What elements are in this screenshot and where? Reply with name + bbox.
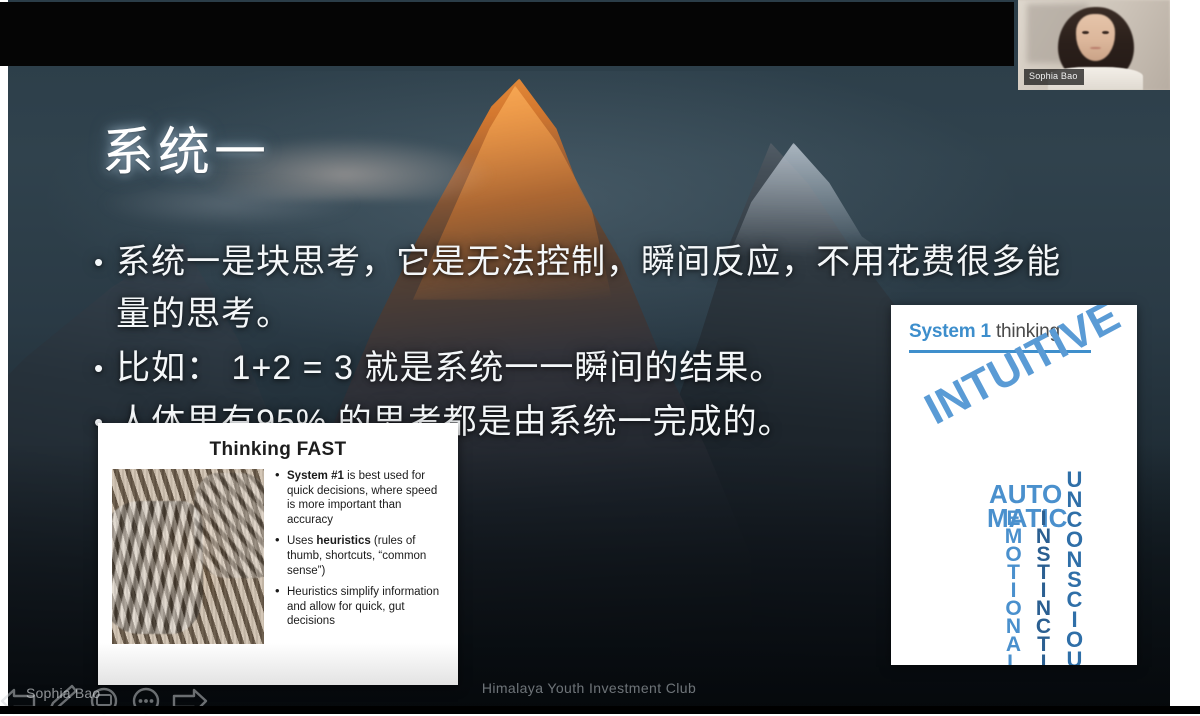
video-tile-name-label: Sophia Bao: [1024, 69, 1084, 85]
wordart-emotional: EMOTIONAL: [1001, 507, 1025, 665]
thinking-fast-points: System #1 is best used for quick decisio…: [274, 469, 444, 644]
participant-video-tile[interactable]: Sophia Bao: [1018, 0, 1170, 90]
thinking-fast-body: System #1 is best used for quick decisio…: [112, 469, 444, 644]
video-person-mouth: [1090, 47, 1101, 49]
bullet-marker-icon: •: [94, 342, 104, 394]
screen-share-stage: 系统一 • 系统一是块思考，它是无法控制，瞬间反应，不用花费很多能量的思考。 •…: [0, 0, 1200, 714]
list-item: Heuristics simplify information and allo…: [274, 585, 444, 629]
video-person-eye-right: [1102, 31, 1110, 34]
image-grain-layer: [112, 469, 264, 644]
list-item: Uses heuristics (rules of thumb, shortcu…: [274, 534, 444, 578]
video-person-eye-left: [1082, 31, 1090, 34]
list-item: System #1 is best used for quick decisio…: [274, 469, 444, 527]
thinking-fast-card: Thinking FAST System #1 is best used for…: [98, 423, 458, 685]
zebra-lion-illusion-image: [112, 469, 264, 644]
wordart-matic: MATIC: [987, 503, 1067, 534]
point-text: Heuristics simplify information and allo…: [287, 586, 439, 627]
wordart-unconscious: UNCONSCIOUS: [1061, 467, 1087, 665]
letterbox-bottom-bar: [0, 706, 1200, 714]
thinking-fast-title: Thinking FAST: [112, 439, 444, 461]
point-text: System #1 is best used for quick decisio…: [287, 470, 437, 526]
system1-heading-bold: System 1: [909, 321, 991, 342]
system1-thinking-card: System 1 thinking INTUITIVE AUTO MATIC U…: [891, 305, 1137, 665]
system1-wordart: INTUITIVE AUTO MATIC UNCONSCIOUS INSTINC…: [909, 367, 1119, 657]
presentation-slide[interactable]: 系统一 • 系统一是块思考，它是无法控制，瞬间反应，不用花费很多能量的思考。 •…: [8, 0, 1170, 714]
point-text: Uses heuristics (rules of thumb, shortcu…: [287, 535, 426, 576]
presenter-name-overlay: Sophia Bao: [26, 685, 100, 701]
bullet-marker-icon: •: [94, 236, 104, 288]
wordart-instinctive: INSTINCTIVE: [1031, 507, 1055, 665]
letterbox-top-bar: [0, 2, 1014, 66]
page-title: 系统一: [102, 120, 270, 186]
